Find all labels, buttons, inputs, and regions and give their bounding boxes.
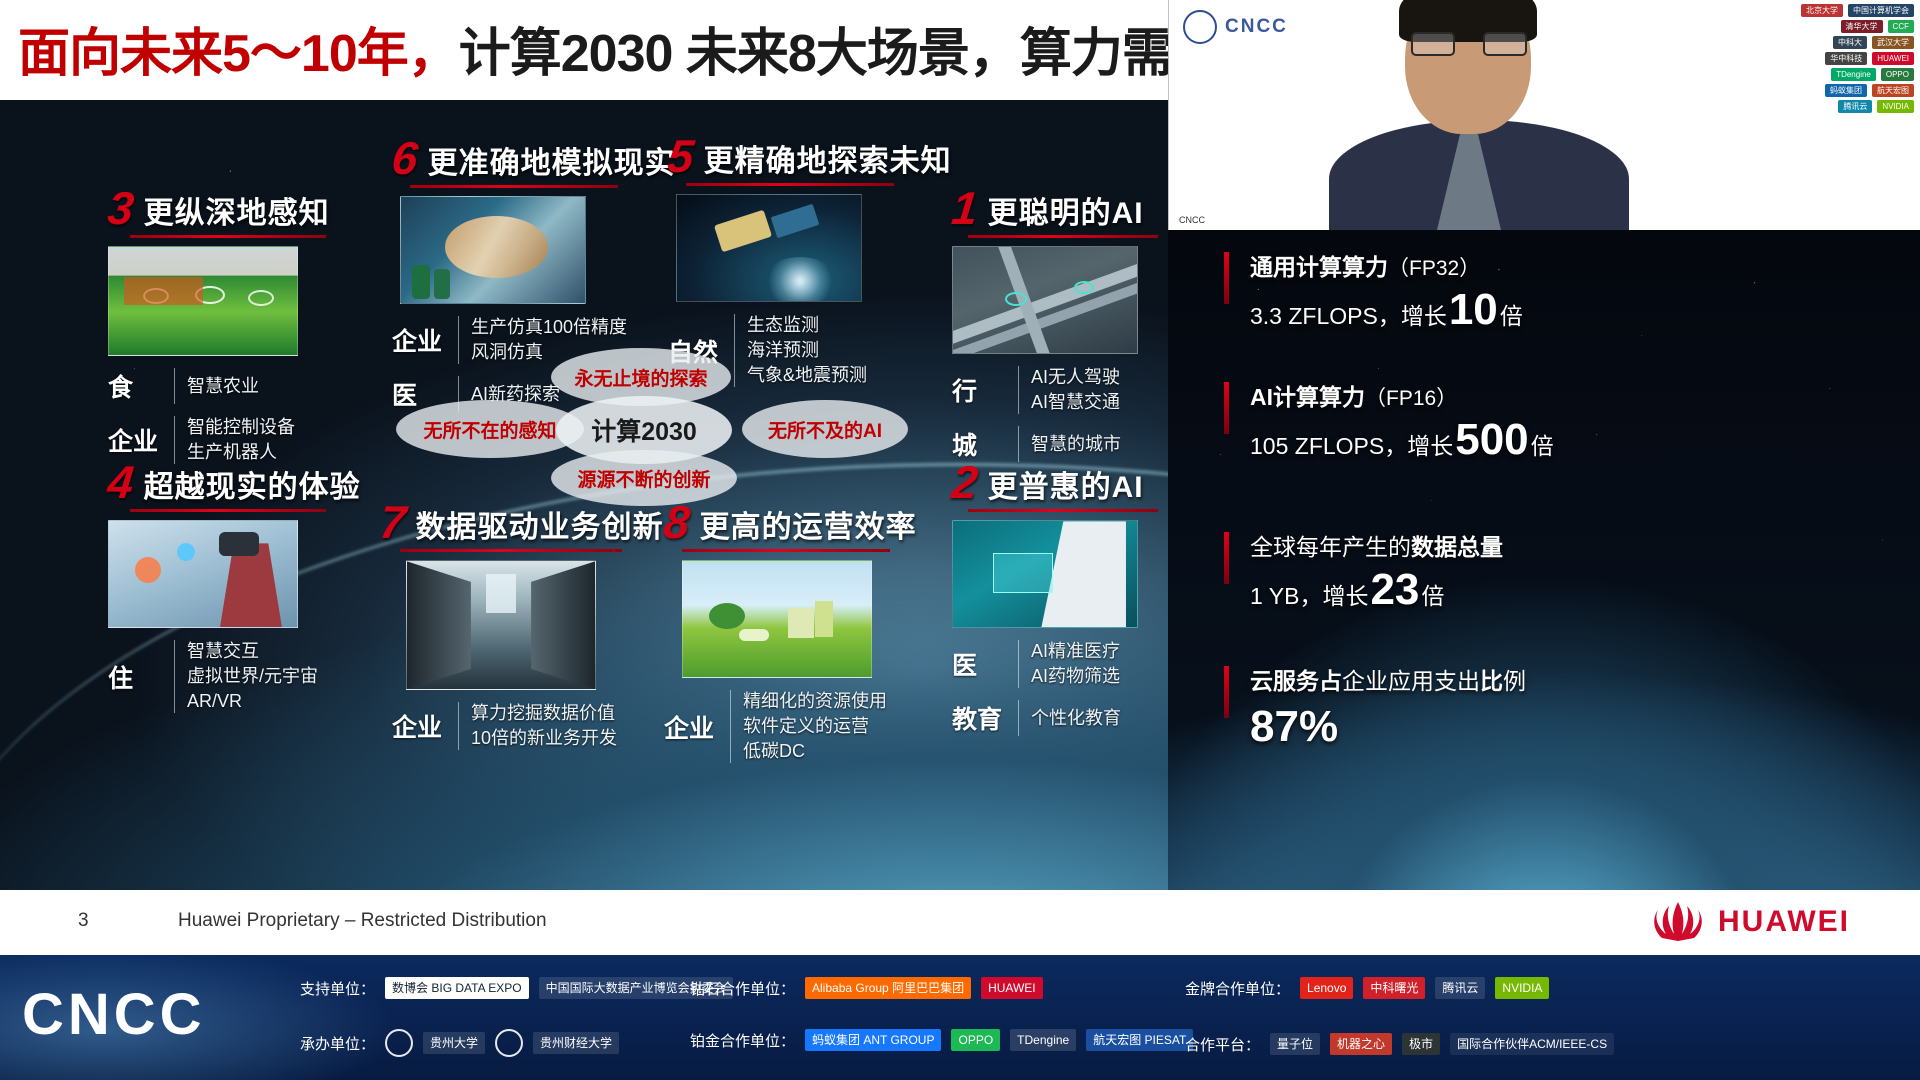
sponsor-logo[interactable]: 国际合作伙伴ACM/IEEE-CS <box>1450 1033 1614 1055</box>
divider <box>174 368 175 404</box>
sponsor-cncc-brand: CNCC <box>22 981 206 1048</box>
value: 10倍的新业务开发 <box>471 727 617 750</box>
scenario-7-rule <box>400 549 622 552</box>
scenario-8-head: 8 更高的运营效率 <box>664 502 944 543</box>
value: AR/VR <box>187 690 318 713</box>
scenario-1-rule <box>968 235 1158 238</box>
divider <box>1018 366 1019 414</box>
divider <box>458 316 459 364</box>
cam-logo-row: 蚂蚁集团航天宏图 <box>1825 84 1914 97</box>
value: 虚拟世界/元宇宙 <box>187 665 318 688</box>
scenario-1-image <box>952 246 1138 354</box>
slide-title-black: 计算2030 未来8大场景，算力需求 <box>459 25 1224 83</box>
sponsor-logo[interactable]: 机器之心 <box>1330 1033 1392 1055</box>
partner-logo: 蚂蚁集团 <box>1825 84 1867 97</box>
sponsor-logo[interactable]: 中科曙光 <box>1363 977 1425 999</box>
stat-general-compute: 通用计算算力（FP32） 3.3 ZFLOPS，增长10倍 <box>1224 248 1884 331</box>
value: 精细化的资源使用 <box>743 690 887 713</box>
value: 生产仿真100倍精度 <box>471 316 627 339</box>
scenario-5-rule <box>686 183 894 186</box>
partner-logo: TDengine <box>1831 68 1876 81</box>
confidentiality-notice: Huawei Proprietary – Restricted Distribu… <box>178 910 547 932</box>
huawei-wordmark: HUAWEI <box>1718 905 1850 939</box>
scenario-1-title: 更聪明的AI <box>988 198 1144 230</box>
scenario-7-row-0-values: 算力挖掘数据价值 10倍的新业务开发 <box>471 702 617 750</box>
scenario-2-image <box>952 520 1138 628</box>
stat-general-compute-title: 通用计算算力（FP32） <box>1250 248 1884 282</box>
scenario-6-rule <box>410 185 618 188</box>
value: 智能控制设备 <box>187 416 295 439</box>
screen-root: 面向未来5～10年，计算2030 未来8大场景，算力需求 3 更纵深地感知 <box>0 0 1920 1080</box>
partner-logo: 华中科技 <box>1825 52 1867 65</box>
stat-value-pre: 3.3 ZFLOPS，增长 <box>1250 297 1447 331</box>
speaker-glasses-icon <box>1411 32 1527 58</box>
scenario-5[interactable]: 5 更精确地探索未知 自然 生态监测 海洋预测 气象&地震预测 <box>668 136 938 387</box>
value: AI智慧交通 <box>1031 391 1120 414</box>
scenario-2-row-0-key: 医 <box>952 640 1018 688</box>
stat-value-post: 倍 <box>1531 427 1554 461</box>
sponsor-row-organizer: 承办单位： 贵州大学 贵州财经大学 <box>300 1029 619 1057</box>
value: 海洋预测 <box>747 339 867 362</box>
partner-logo: 清华大学 <box>1841 20 1883 33</box>
scenario-4-image <box>108 520 298 628</box>
sponsor-logo[interactable]: Alibaba Group 阿里巴巴集团 <box>805 977 971 999</box>
scenario-4-rule <box>130 509 326 512</box>
sponsor-label: 钻石合作单位： <box>690 978 795 999</box>
scenario-1-number: 1 <box>950 188 980 229</box>
sponsor-label: 支持单位： <box>300 978 375 999</box>
stat-value-big: 10 <box>1447 290 1500 330</box>
value: 软件定义的运营 <box>743 715 887 738</box>
cam-logo-row: 清华大学CCF <box>1841 20 1914 33</box>
scenario-8-image <box>682 560 872 678</box>
value: 算力挖掘数据价值 <box>471 702 617 725</box>
stat-cloud-share: 云服务占企业应用支出比例 87% <box>1224 662 1884 752</box>
stat-value-big: 500 <box>1453 420 1530 460</box>
scenario-4-row-0-values: 智慧交互 虚拟世界/元宇宙 AR/VR <box>187 640 318 713</box>
partner-logo: NVIDIA <box>1877 100 1914 113</box>
scenario-7-head: 7 数据驱动业务创新 <box>380 502 660 543</box>
sponsor-row-support: 支持单位： 数博会 BIG DATA EXPO 中国国际大数据产业博览会执委会 <box>300 977 733 999</box>
scenario-2-head: 2 更普惠的AI <box>952 462 1202 503</box>
scenario-8-row-0-values: 精细化的资源使用 软件定义的运营 低碳DC <box>743 690 887 763</box>
sponsor-label: 承办单位： <box>300 1033 375 1054</box>
divider <box>174 416 175 464</box>
scenario-6-number: 6 <box>390 138 420 179</box>
scenario-1[interactable]: 1 更聪明的AI 行 AI无人驾驶 AI智慧交通 <box>952 188 1202 462</box>
huawei-logo: HUAWEI <box>1650 900 1850 944</box>
scenario-4-title: 超越现实的体验 <box>144 472 361 504</box>
bubble-right: 无所不及的AI <box>742 400 908 458</box>
sponsor-row-diamond: 钻石合作单位： Alibaba Group 阿里巴巴集团 HUAWEI <box>690 977 1043 999</box>
value: AI无人驾驶 <box>1031 366 1120 389</box>
scenario-8[interactable]: 8 更高的运营效率 企业 精细化的资源使用 软件定义的运营 低碳D <box>664 502 944 763</box>
stat-title-mid: 企业应用支出 <box>1342 668 1480 694</box>
sponsor-logo[interactable]: Lenovo <box>1300 977 1353 999</box>
sponsor-row-platinum: 铂金合作单位： 蚂蚁集团 ANT GROUP OPPO TDengine 航天宏… <box>690 1029 1193 1051</box>
scenario-2-title: 更普惠的AI <box>988 472 1144 504</box>
scenario-3-row-0-key: 食 <box>108 368 174 404</box>
scenario-3-row-0: 食 智慧农业 <box>108 368 358 404</box>
scenario-6-image <box>400 196 586 304</box>
value: 气象&地震预测 <box>747 364 867 387</box>
scenario-6-title: 更准确地模拟现实 <box>428 148 676 180</box>
sponsor-label: 铂金合作单位： <box>690 1030 795 1051</box>
scenario-7-image <box>406 560 596 690</box>
scenario-4-row-0: 住 智慧交互 虚拟世界/元宇宙 AR/VR <box>108 640 358 713</box>
scenario-5-row-0-values: 生态监测 海洋预测 气象&地震预测 <box>747 314 867 387</box>
scenario-3-head: 3 更纵深地感知 <box>108 188 358 229</box>
scenario-3-title: 更纵深地感知 <box>144 198 330 230</box>
stat-value-pre: 1 YB，增长 <box>1250 577 1368 611</box>
stat-ai-compute: AI计算算力（FP16） 105 ZFLOPS，增长500倍 <box>1224 378 1884 461</box>
stat-title-main: 通用计算算力 <box>1250 254 1388 280</box>
stat-global-data-value: 1 YB，增长23倍 <box>1250 570 1884 611</box>
scenario-8-row-0: 企业 精细化的资源使用 软件定义的运营 低碳DC <box>664 690 944 763</box>
stat-global-data-title: 全球每年产生的数据总量 <box>1250 528 1884 562</box>
stat-title-sub: （FP32） <box>1388 257 1480 280</box>
scenario-1-head: 1 更聪明的AI <box>952 188 1202 229</box>
value: 智慧的城市 <box>1031 433 1121 456</box>
partner-logo: CCF <box>1888 20 1914 33</box>
partner-logo: 中国计算机学会 <box>1848 4 1914 17</box>
scenario-1-row-0-values: AI无人驾驶 AI智慧交通 <box>1031 366 1120 414</box>
scenario-2-row-1: 教育 个性化教育 <box>952 700 1202 736</box>
scenario-8-number: 8 <box>662 502 692 543</box>
divider <box>734 314 735 387</box>
partner-logo: HUAWEI <box>1872 52 1914 65</box>
scenario-7-row-0: 企业 算力挖掘数据价值 10倍的新业务开发 <box>392 702 660 750</box>
scenario-6-row-0-key: 企业 <box>392 316 458 364</box>
sponsor-logo[interactable]: OPPO <box>951 1029 1000 1051</box>
scenario-3-image <box>108 246 298 356</box>
page-number: 3 <box>78 910 89 932</box>
value: AI精准医疗 <box>1031 640 1120 663</box>
value: 智慧农业 <box>187 375 259 398</box>
scenario-5-number: 5 <box>666 136 696 177</box>
divider <box>1018 640 1019 688</box>
huawei-flower-icon <box>1650 900 1706 944</box>
scenario-4-head: 4 超越现实的体验 <box>108 462 358 503</box>
scenario-2-number: 2 <box>950 462 980 503</box>
scenario-4-number: 4 <box>106 462 136 503</box>
scenario-2-row-0-values: AI精准医疗 AI药物筛选 <box>1031 640 1120 688</box>
divider <box>174 640 175 713</box>
scenario-7[interactable]: 7 数据驱动业务创新 企业 算力挖掘数据价值 10倍的新业务开发 <box>380 502 660 750</box>
slide-footer: 3 Huawei Proprietary – Restricted Distri… <box>0 890 1920 955</box>
scenario-1-row-1-values: 智慧的城市 <box>1031 426 1121 462</box>
scenario-5-title: 更精确地探索未知 <box>704 146 952 178</box>
partner-logo: 中科大 <box>1833 36 1867 49</box>
cam-logo-row: 腾讯云NVIDIA <box>1838 100 1914 113</box>
cncc-logo-text: CNCC <box>1225 16 1288 38</box>
cam-logo-row: 华中科技HUAWEI <box>1825 52 1914 65</box>
cncc-logo: CNCC <box>1183 10 1288 44</box>
scenario-8-rule <box>682 549 890 552</box>
scenario-4[interactable]: 4 超越现实的体验 住 智慧交互 虚拟世界/元宇宙 AR/VR <box>108 462 358 713</box>
stat-global-data: 全球每年产生的数据总量 1 YB，增长23倍 <box>1224 528 1884 611</box>
university-seal-icon <box>495 1029 523 1057</box>
value: 低碳DC <box>743 740 887 763</box>
scenario-3-row-0-values: 智慧农业 <box>187 368 259 404</box>
scenario-1-row-1: 城 智慧的城市 <box>952 426 1202 462</box>
stat-title-main: AI计算算力 <box>1250 384 1365 410</box>
stats-panel: 通用计算算力（FP32） 3.3 ZFLOPS，增长10倍 AI计算算力（FP1… <box>1168 230 1920 890</box>
sponsor-logo[interactable]: 量子位 <box>1270 1033 1320 1055</box>
scenario-6-head: 6 更准确地模拟现实 <box>392 138 662 179</box>
sponsor-logo[interactable]: NVIDIA <box>1495 977 1549 999</box>
stat-ai-compute-value: 105 ZFLOPS，增长500倍 <box>1250 420 1884 461</box>
partner-logo: 北京大学 <box>1801 4 1843 17</box>
divider <box>458 702 459 750</box>
scenario-5-head: 5 更精确地探索未知 <box>668 136 938 177</box>
stat-title-main: 全球每年产生的 <box>1250 534 1411 560</box>
sponsor-logo[interactable]: 贵州大学 <box>423 1032 485 1054</box>
stat-cloud-share-percent: 87% <box>1250 702 1884 752</box>
sponsor-logo[interactable]: 贵州财经大学 <box>533 1032 619 1054</box>
sponsor-logo[interactable]: TDengine <box>1010 1029 1076 1051</box>
partner-logo: 腾讯云 <box>1838 100 1872 113</box>
stat-general-compute-value: 3.3 ZFLOPS，增长10倍 <box>1250 290 1884 331</box>
scenario-8-row-0-key: 企业 <box>664 690 730 763</box>
partner-logo: 武汉大学 <box>1872 36 1914 49</box>
sponsor-logo[interactable]: 蚂蚁集团 ANT GROUP <box>805 1029 941 1051</box>
cam-logo-row: 中科大武汉大学 <box>1833 36 1914 49</box>
slide-title-red: 面向未来5～10年， <box>18 25 459 83</box>
stat-title-strong: 比 <box>1480 668 1503 694</box>
value: 生态监测 <box>747 314 867 337</box>
scenario-2-row-1-key: 教育 <box>952 700 1018 736</box>
divider <box>1018 426 1019 462</box>
scenario-5-image <box>676 194 862 302</box>
stat-ai-compute-title: AI计算算力（FP16） <box>1250 378 1884 412</box>
cncc-seal-icon <box>1183 10 1217 44</box>
partner-logo: 航天宏图 <box>1872 84 1914 97</box>
scenario-1-row-0-key: 行 <box>952 366 1018 414</box>
scenario-3-number: 3 <box>106 188 136 229</box>
sponsor-logo[interactable]: 极市 <box>1402 1033 1440 1055</box>
stat-title-sub: （FP16） <box>1365 387 1457 410</box>
sponsor-logo[interactable]: 航天宏图 PIESAT <box>1086 1029 1193 1051</box>
sponsor-logo[interactable]: HUAWEI <box>981 977 1043 999</box>
divider <box>730 690 731 763</box>
scenario-3[interactable]: 3 更纵深地感知 食 智慧农业 企业 <box>108 188 358 464</box>
sponsor-bar: CNCC 支持单位： 数博会 BIG DATA EXPO 中国国际大数据产业博览… <box>0 955 1920 1080</box>
stat-title-strong: 数据总量 <box>1411 534 1503 560</box>
value: AI药物筛选 <box>1031 665 1120 688</box>
scenario-8-title: 更高的运营效率 <box>700 512 917 544</box>
cam-partner-logos: 北京大学中国计算机学会 清华大学CCF 中科大武汉大学 华中科技HUAWEI T… <box>1704 4 1914 113</box>
value: 个性化教育 <box>1031 707 1121 730</box>
scenario-7-row-0-key: 企业 <box>392 702 458 750</box>
scenario-2-rule <box>968 509 1158 512</box>
value: 生产机器人 <box>187 441 295 464</box>
sponsor-row-platform: 合作平台： 量子位 机器之心 极市 国际合作伙伴ACM/IEEE-CS <box>1185 1033 1614 1055</box>
partner-logo: OPPO <box>1881 68 1914 81</box>
scenario-2[interactable]: 2 更普惠的AI 医 AI精准医疗 AI药物筛选 教育 <box>952 462 1202 736</box>
stat-title-tail: 例 <box>1503 668 1526 694</box>
sponsor-logo[interactable]: 腾讯云 <box>1435 977 1485 999</box>
scenario-1-row-0: 行 AI无人驾驶 AI智慧交通 <box>952 366 1202 414</box>
scenario-3-row-1-values: 智能控制设备 生产机器人 <box>187 416 295 464</box>
sponsor-row-gold: 金牌合作单位： Lenovo 中科曙光 腾讯云 NVIDIA <box>1185 977 1549 999</box>
scenario-2-row-1-values: 个性化教育 <box>1031 700 1121 736</box>
scenario-7-title: 数据驱动业务创新 <box>416 512 664 544</box>
university-seal-icon <box>385 1029 413 1057</box>
divider <box>1018 700 1019 736</box>
stat-value-post: 倍 <box>1421 577 1444 611</box>
speaker-video-overlay[interactable]: CNCC 北京大学中国计算机学会 清华大学CCF 中科大武汉大学 华中科技HUA… <box>1168 0 1920 230</box>
value: 智慧交互 <box>187 640 318 663</box>
scenario-3-rule <box>130 235 326 238</box>
scenario-2-row-0: 医 AI精准医疗 AI药物筛选 <box>952 640 1202 688</box>
scenario-7-number: 7 <box>378 502 408 543</box>
camera-label: CNCC <box>1175 214 1209 226</box>
stat-value-post: 倍 <box>1500 297 1523 331</box>
speaker-figure <box>1319 30 1649 230</box>
sponsor-label: 合作平台： <box>1185 1034 1260 1055</box>
scenario-3-row-1: 企业 智能控制设备 生产机器人 <box>108 416 358 464</box>
cam-logo-row: 北京大学中国计算机学会 <box>1801 4 1914 17</box>
sponsor-label: 金牌合作单位： <box>1185 978 1290 999</box>
stat-cloud-share-title: 云服务占企业应用支出比例 <box>1250 662 1884 696</box>
cam-logo-row: TDengineOPPO <box>1831 68 1914 81</box>
scenario-4-row-0-key: 住 <box>108 640 174 713</box>
stat-value-pre: 105 ZFLOPS，增长 <box>1250 427 1453 461</box>
stat-value-big: 23 <box>1368 570 1421 610</box>
stats-earth-glow <box>1168 415 1920 890</box>
stat-title-main: 云服务占 <box>1250 668 1342 694</box>
bubble-bottom: 源源不断的创新 <box>551 450 737 506</box>
sponsor-logo[interactable]: 数博会 BIG DATA EXPO <box>385 977 529 999</box>
